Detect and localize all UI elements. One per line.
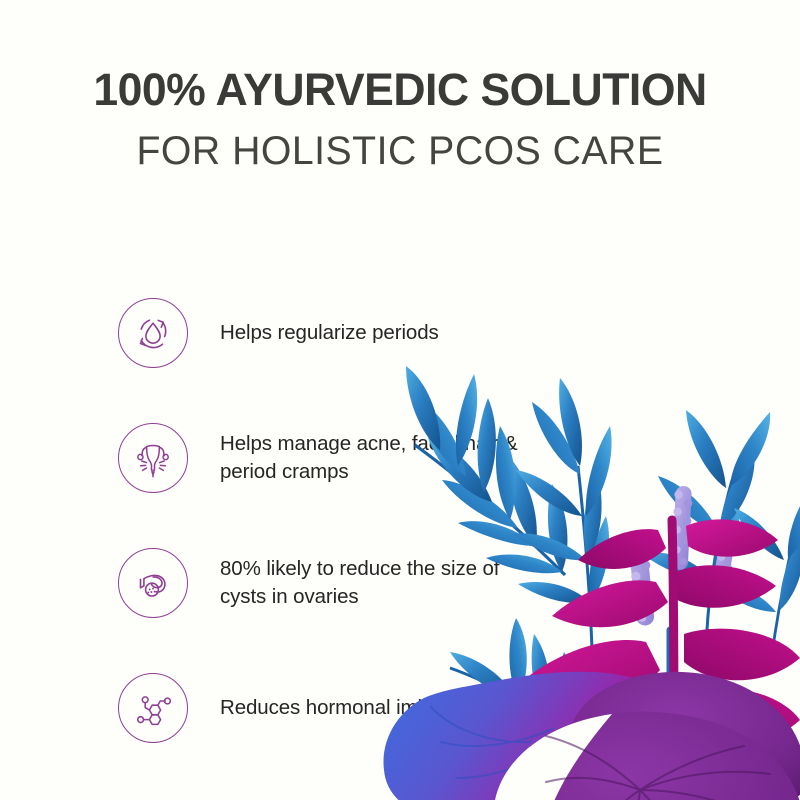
uterus-cramps-icon xyxy=(118,423,188,493)
benefit-label: Reduces hormonal imbalance xyxy=(220,694,489,721)
benefit-label: Helps regularize periods xyxy=(220,319,439,346)
ovary-cysts-icon xyxy=(118,548,188,618)
headline-secondary: FOR HOLISTIC PCOS CARE xyxy=(8,129,792,173)
benefit-label: 80% likely to reduce the size of cysts i… xyxy=(220,555,548,610)
lavender-flower-spikes xyxy=(625,486,738,627)
benefit-item-hormonal-imbalance: Reduces hormonal imbalance xyxy=(118,645,548,770)
magenta-leaves-group xyxy=(508,519,800,800)
benefits-list: Helps regularize periods He xyxy=(118,270,548,770)
headline-block: 100% AYURVEDIC SOLUTION FOR HOLISTIC PCO… xyxy=(0,66,800,173)
benefit-item-reduce-cysts: 80% likely to reduce the size of cysts i… xyxy=(118,520,548,645)
benefit-item-acne-hair-cramps: Helps manage acne, facial hair & period … xyxy=(118,395,548,520)
benefit-item-regularize-periods: Helps regularize periods xyxy=(118,270,548,395)
water-drop-cycle-icon xyxy=(118,298,188,368)
headline-primary: 100% AYURVEDIC SOLUTION xyxy=(4,66,796,115)
hormone-molecule-icon xyxy=(118,673,188,743)
benefit-label: Helps manage acne, facial hair & period … xyxy=(220,430,548,485)
